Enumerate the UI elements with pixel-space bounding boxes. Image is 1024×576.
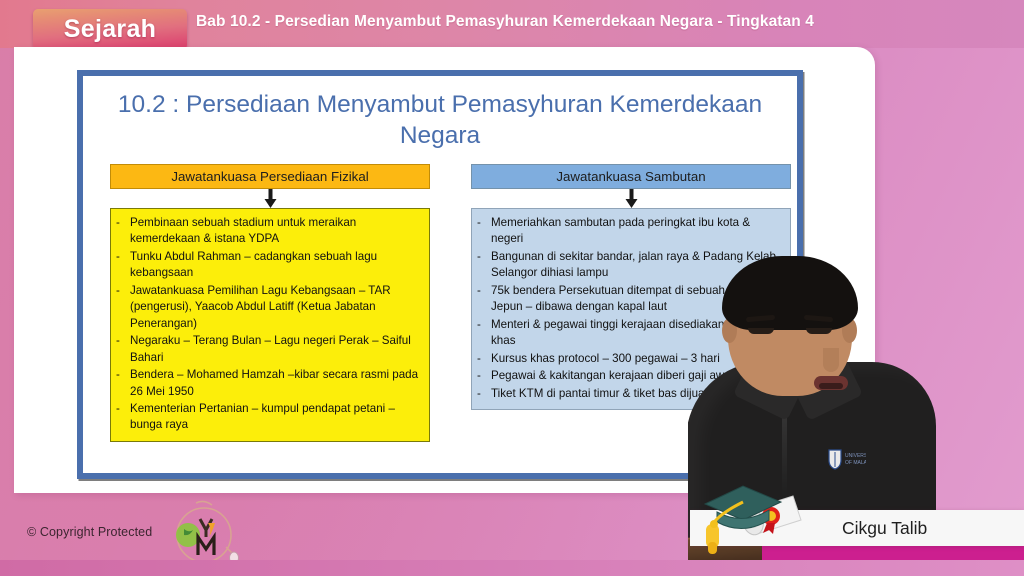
- bullet-dash: -: [477, 386, 484, 402]
- list-item: -Tunku Abdul Rahman – cadangkan sebuah l…: [116, 249, 422, 282]
- list-item: -Bendera – Mohamed Hamzah –kibar secara …: [116, 367, 422, 400]
- bullet-text: Tunku Abdul Rahman – cadangkan sebuah la…: [130, 249, 422, 282]
- arrow-down-left: [110, 189, 430, 208]
- bullet-dash: -: [477, 215, 484, 248]
- bullet-text: Bendera – Mohamed Hamzah –kibar secara r…: [130, 367, 422, 400]
- bullet-dash: -: [477, 368, 484, 384]
- list-item: -Pembinaan sebuah stadium untuk meraikan…: [116, 215, 422, 248]
- bullet-list-left: -Pembinaan sebuah stadium untuk meraikan…: [116, 215, 422, 434]
- bullet-dash: -: [116, 367, 123, 400]
- bullet-dash: -: [477, 317, 484, 350]
- lesson-title: Bab 10.2 - Persedian Menyambut Pemasyhur…: [196, 13, 814, 31]
- column-right-heading: Jawatankuasa Sambutan: [471, 164, 791, 189]
- bullet-dash: -: [116, 401, 123, 434]
- copyright-notice: © Copyright Protected: [27, 525, 152, 539]
- bullet-dash: -: [477, 351, 484, 367]
- presenter-eye-right: [806, 328, 832, 334]
- svg-text:OF MALAYA: OF MALAYA: [845, 460, 866, 466]
- bullet-text: Negaraku – Terang Bulan – Lagu negeri Pe…: [130, 333, 422, 366]
- list-item: -Memeriahkan sambutan pada peringkat ibu…: [477, 215, 783, 248]
- presenter-name: Cikgu Talib: [842, 518, 927, 539]
- arrow-down-icon: [625, 189, 638, 208]
- arrow-down-icon: [264, 189, 277, 208]
- bullet-text: Memeriahkan sambutan pada peringkat ibu …: [491, 215, 783, 248]
- list-item: -Kementerian Pertanian – kumpul pendapat…: [116, 401, 422, 434]
- bullet-text: Kementerian Pertanian – kumpul pendapat …: [130, 401, 422, 434]
- bullet-dash: -: [477, 283, 484, 316]
- list-item: -Jawatankuasa Pemilihan Lagu Kebangsaan …: [116, 283, 422, 332]
- column-left-heading: Jawatankuasa Persediaan Fizikal: [110, 164, 430, 189]
- list-item: -Negaraku – Terang Bulan – Lagu negeri P…: [116, 333, 422, 366]
- bullet-dash: -: [477, 249, 484, 282]
- graduation-cap-diploma-icon: [697, 476, 823, 572]
- slide-stage: Bab 10.2 - Persedian Menyambut Pemasyhur…: [0, 0, 1024, 576]
- column-jawatankuasa-persediaan-fizikal: Jawatankuasa Persediaan Fizikal -Pembina…: [110, 164, 430, 442]
- presenter-eye-left: [748, 328, 774, 334]
- subject-badge-label: Sejarah: [64, 15, 156, 44]
- bullet-text: Jawatankuasa Pemilihan Lagu Kebangsaan –…: [130, 283, 422, 332]
- university-crest-icon: UNIVERSITY OF MALAYA: [826, 448, 866, 470]
- presenter-nose: [823, 348, 839, 372]
- bullet-dash: -: [116, 283, 123, 332]
- subject-badge: Sejarah: [33, 9, 187, 50]
- bullet-dash: -: [116, 215, 123, 248]
- bullet-dash: -: [116, 249, 123, 282]
- bullet-dash: -: [116, 333, 123, 366]
- header-bar: Bab 10.2 - Persedian Menyambut Pemasyhur…: [0, 0, 1024, 48]
- arrow-down-right: [471, 189, 791, 208]
- svg-text:UNIVERSITY: UNIVERSITY: [845, 453, 866, 459]
- column-left-body: -Pembinaan sebuah stadium untuk meraikan…: [110, 208, 430, 442]
- presenter-mouth: [814, 376, 848, 390]
- presenter-hair: [722, 256, 858, 330]
- slide-heading: 10.2 : Persediaan Menyambut Pemasyhuran …: [105, 90, 775, 152]
- bottom-accent-strip: [0, 560, 1024, 576]
- bullet-text: Pembinaan sebuah stadium untuk meraikan …: [130, 215, 422, 248]
